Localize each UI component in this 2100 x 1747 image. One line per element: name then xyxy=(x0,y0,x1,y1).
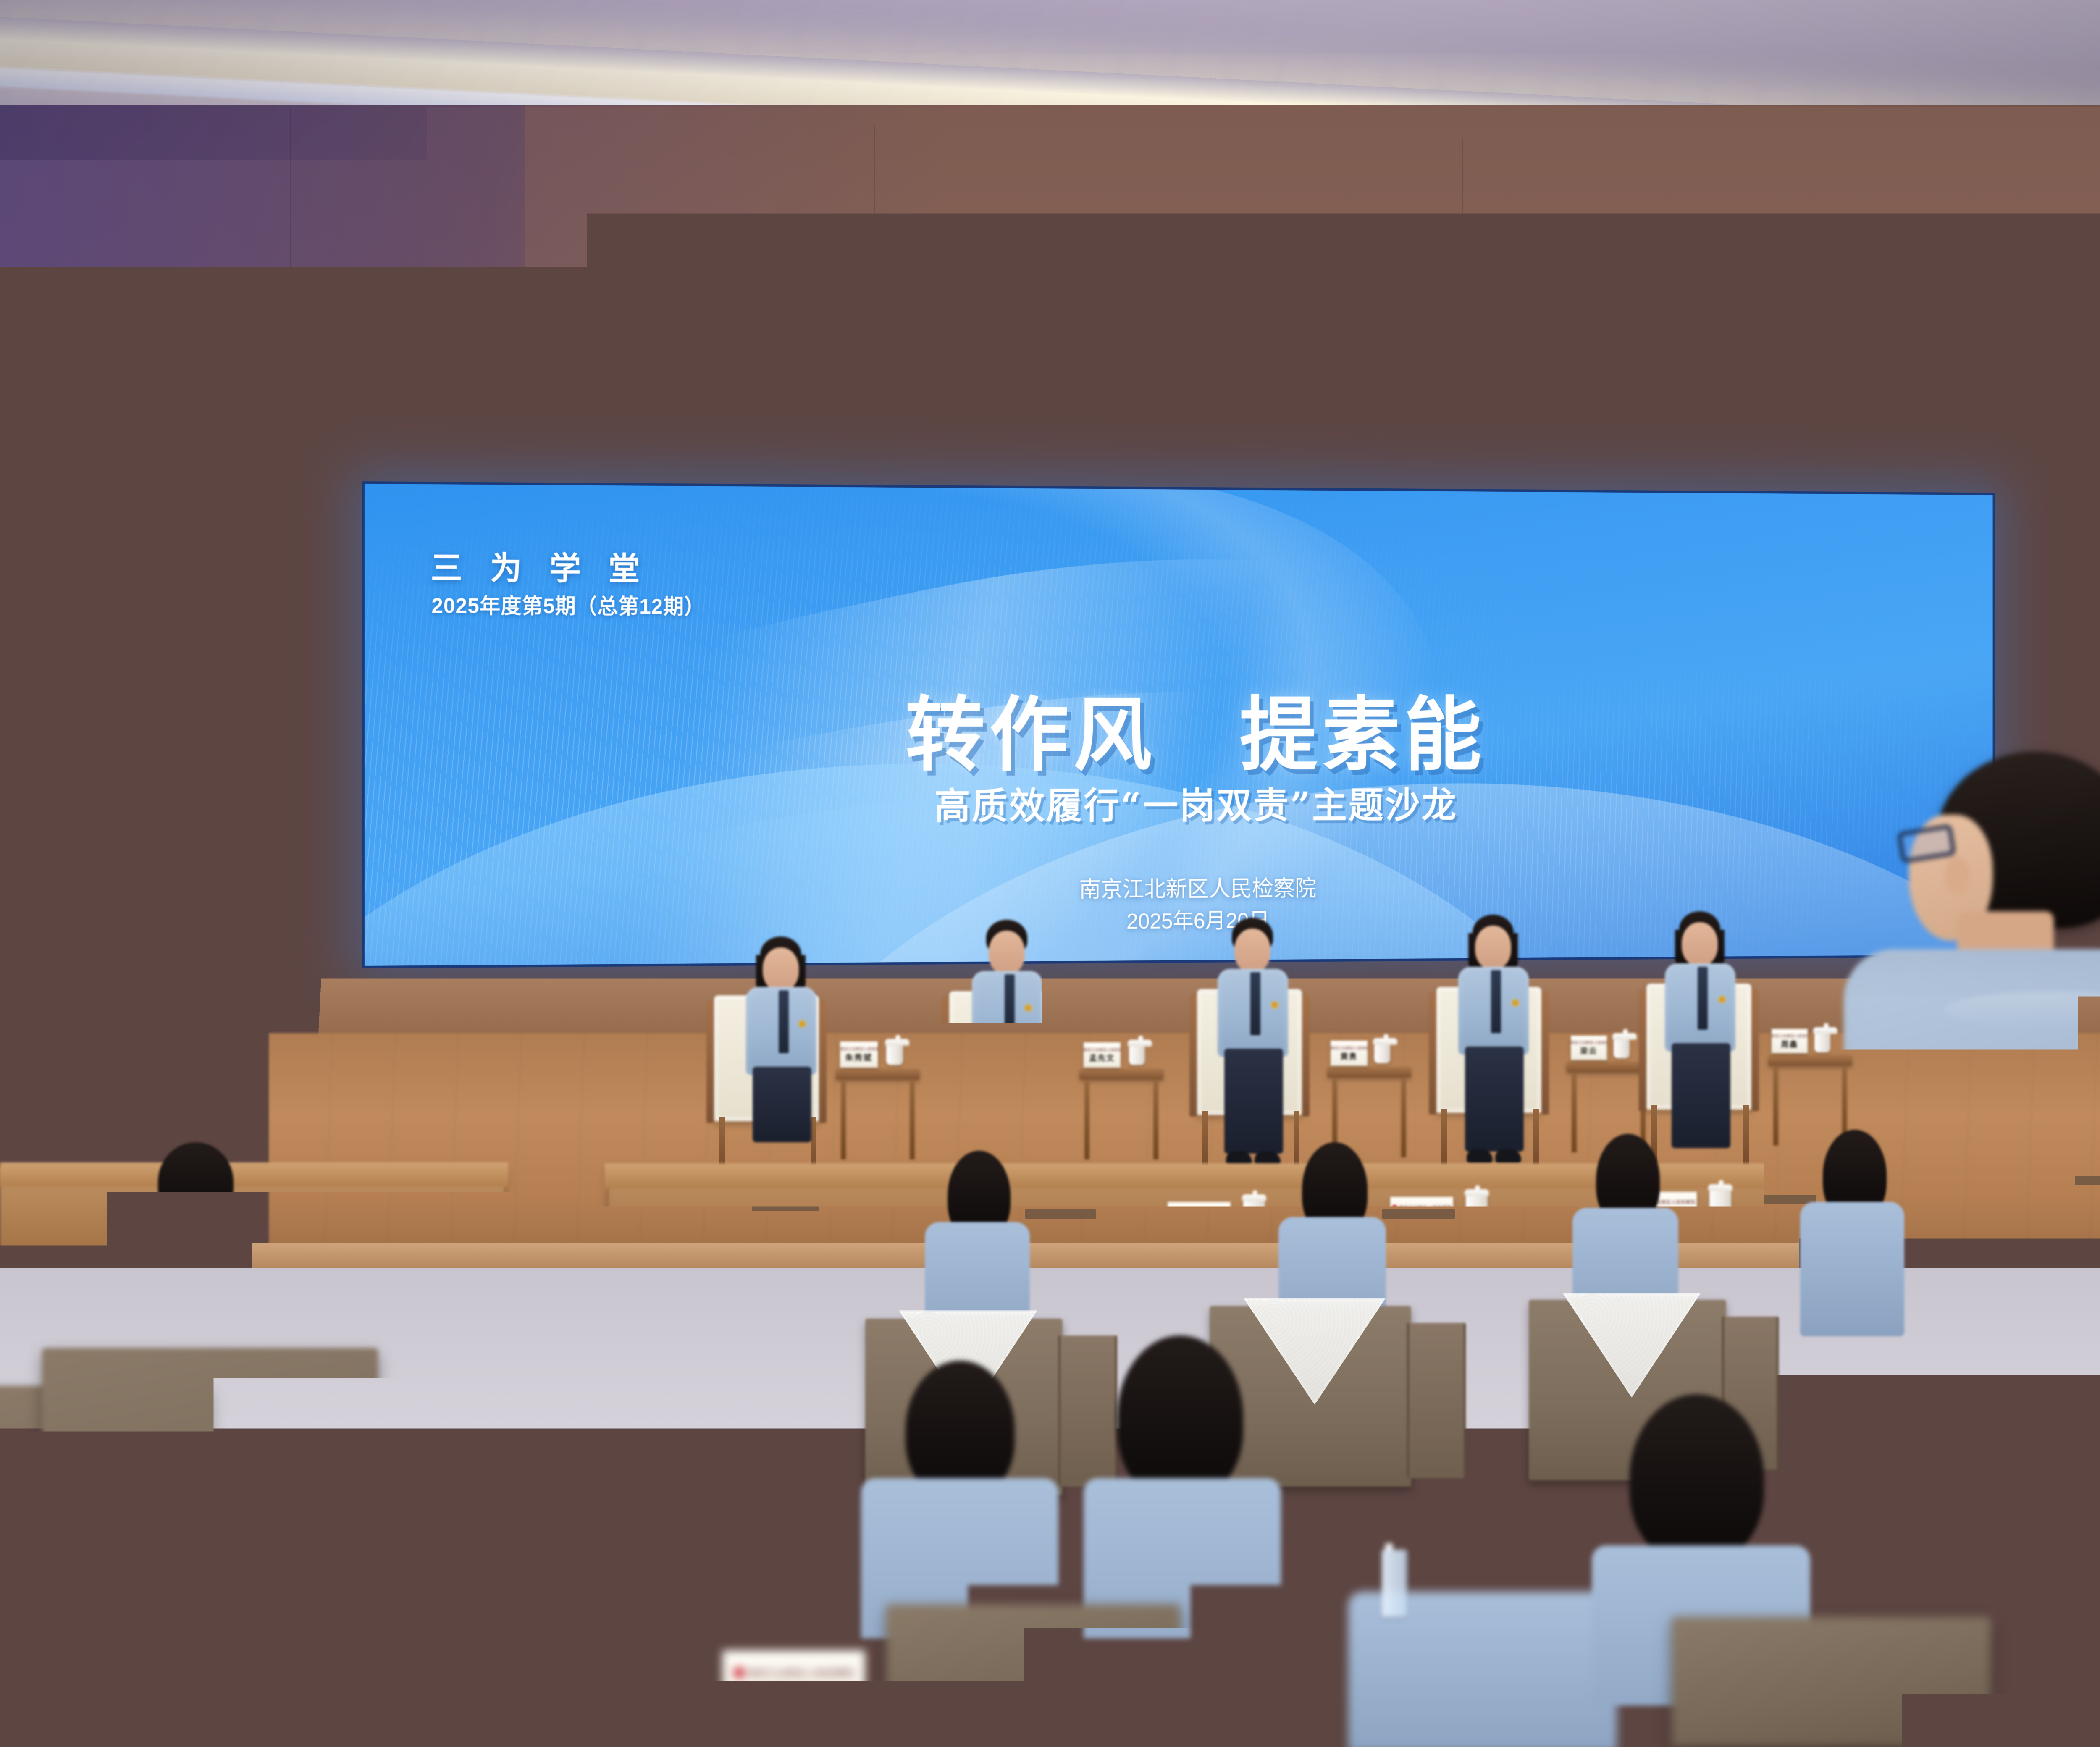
panelist-head xyxy=(1234,929,1270,972)
name-placard: 南京江北新区人民检察院 梁云 xyxy=(1571,1036,1607,1060)
panelist-tie xyxy=(1491,970,1501,1033)
table-leg xyxy=(1153,1080,1158,1159)
side-table xyxy=(1327,1067,1411,1078)
side-table xyxy=(1567,1062,1651,1073)
placard-org: 南京江北新区人民检察院 xyxy=(1399,1204,1452,1211)
placard-header: 南京江北新区人民检察院 xyxy=(1331,1045,1368,1051)
panelist-tie xyxy=(1698,967,1708,1030)
table-leg xyxy=(1773,1066,1778,1146)
placard-org: 南京江北新区人民检察院 xyxy=(320,1218,373,1225)
placard-name: 朱秀斌 xyxy=(321,1225,365,1243)
audience-hair xyxy=(1630,1394,1764,1562)
panelist-head xyxy=(1682,922,1718,966)
tea-cup xyxy=(1243,1200,1265,1226)
screen-kicker: 三 为 学 堂 xyxy=(430,542,649,589)
placard-header: 南京江北新区人民检察院 xyxy=(1084,1047,1121,1052)
placard-name: 周鑫 xyxy=(764,1679,823,1717)
placard-header: 南京江北新区人民检察院 xyxy=(1392,1204,1452,1211)
name-placard: 南京江北新区人民检察院 朱秀斌 xyxy=(311,1210,375,1251)
panelist-head xyxy=(763,947,799,991)
uniform-badge-icon xyxy=(1271,1002,1278,1008)
audience-desk-top xyxy=(0,1162,508,1187)
placard-name: 黄勇 xyxy=(1408,1211,1436,1228)
placard-name: 黄勇 xyxy=(1340,1051,1357,1062)
name-placard: 南京江北新区人民检察院 黄勇 xyxy=(1331,1041,1368,1066)
wall-seam xyxy=(0,622,378,623)
panelist-head xyxy=(1475,926,1511,969)
seat-armrest xyxy=(1058,1335,1117,1487)
tea-cup xyxy=(1466,1195,1488,1221)
screen-main-title: 转作风 提素能 xyxy=(365,669,1993,787)
tea-cup xyxy=(1374,1044,1390,1063)
procuratorate-emblem-icon xyxy=(313,1219,318,1224)
placard-org: 南京江北新区人民检察院 xyxy=(748,1666,854,1679)
uniform-badge-icon xyxy=(1512,999,1519,1006)
screen-issue-number: 2025年度第5期（总第12期） xyxy=(431,589,705,620)
conference-hall-photo: 三 为 学 堂 2025年度第5期（总第12期） 转作风 提素能 高质效履行“一… xyxy=(0,0,2100,1747)
panelist-head xyxy=(989,931,1025,974)
placard-name: 孟先文 xyxy=(1089,1052,1115,1063)
panelist-tie xyxy=(1250,972,1260,1035)
name-placard: 南京江北新区人民检察院 周鑫 xyxy=(1772,1029,1808,1053)
panelist-legs xyxy=(1672,1043,1730,1148)
wall-seam xyxy=(1462,139,1463,487)
foreground-armrest xyxy=(361,1386,464,1722)
screen-surface: 三 为 学 堂 2025年度第5期（总第12期） 转作风 提素能 高质效履行“一… xyxy=(365,484,1993,966)
panelist-tie xyxy=(1005,974,1015,1037)
placard-org: 南京江北新区人民检察院 xyxy=(1331,1045,1368,1051)
procuratorate-emblem-icon xyxy=(734,1667,745,1678)
placard-org: 南京江北新区人民检察院 xyxy=(1084,1047,1121,1052)
screen-content: 三 为 学 堂 2025年度第5期（总第12期） 转作风 提素能 高质效履行“一… xyxy=(365,484,1993,966)
table-leg xyxy=(1572,1073,1577,1152)
panelist-legs xyxy=(1465,1047,1524,1152)
standing-attendee xyxy=(1819,752,2100,1747)
procuratorate-emblem-icon xyxy=(1169,1210,1175,1215)
uniform-badge-icon xyxy=(799,1020,806,1027)
placard-org: 南京江北新区人民检察院 xyxy=(1772,1033,1808,1039)
placard-header: 南京江北新区人民检察院 xyxy=(1772,1033,1808,1039)
placard-name: 周鑫 xyxy=(1781,1039,1798,1049)
placard-name: 朱秀斌 xyxy=(845,1052,873,1063)
placard-header: 南京江北新区人民检察院 xyxy=(734,1666,854,1679)
side-table xyxy=(1079,1069,1163,1080)
placard-org: 南京江北新区人民检察院 xyxy=(1176,1209,1229,1216)
chair-leg xyxy=(1533,1109,1539,1172)
chair-leg xyxy=(1743,1105,1749,1168)
placard-header: 南京江北新区人民检察院 xyxy=(1169,1209,1229,1216)
placard-header: 南京江北新区人民检察院 xyxy=(840,1046,878,1052)
audience-hair xyxy=(1117,1335,1243,1499)
panelist-legs xyxy=(979,1051,1037,1156)
chair-leg xyxy=(1441,1109,1447,1172)
foreground-chair xyxy=(886,1604,1180,1747)
table-leg xyxy=(1084,1080,1089,1159)
audience-torso xyxy=(113,1207,281,1354)
standing-attendee-trousers xyxy=(1865,1419,2100,1747)
uniform-badge-icon xyxy=(1719,996,1725,1003)
audience-hair xyxy=(1390,1394,1567,1613)
side-table xyxy=(836,1069,920,1080)
panelist-shoe xyxy=(1467,1149,1493,1163)
wall-seam xyxy=(874,126,875,504)
led-stage-screen: 三 为 学 堂 2025年度第5期（总第12期） 转作风 提素能 高质效履行“一… xyxy=(362,481,1995,968)
tea-cup xyxy=(1129,1046,1145,1065)
water-bottle xyxy=(1382,1550,1407,1617)
placard-org: 南京江北新区人民检察院 xyxy=(840,1046,878,1052)
screen-subtitle: 高质效履行“一岗双责”主题沙龙 xyxy=(365,775,1993,831)
placard-name: 梁云 xyxy=(1580,1045,1597,1056)
wall-seam xyxy=(290,109,291,1075)
panelist-legs xyxy=(1224,1049,1283,1154)
name-placard: 南京江北新区人民检察院 黄勇 xyxy=(1390,1197,1453,1235)
table-leg xyxy=(1401,1078,1406,1157)
tea-cup xyxy=(886,1045,903,1065)
presenter-monitor xyxy=(752,1120,928,1259)
panelist-tie xyxy=(779,990,789,1053)
placard-header: 南京江北新区人民检察院 xyxy=(1571,1040,1607,1045)
panelist-shoe xyxy=(1495,1149,1521,1163)
screen-bezel: 三 为 学 堂 2025年度第5期（总第12期） 转作风 提素能 高质效履行“一… xyxy=(362,481,1995,968)
placard-org: 南京江北新区人民检察院 xyxy=(1571,1040,1607,1045)
standing-attendee-ear xyxy=(1945,857,1971,894)
name-placard: 南京江北新区人民检察院 孟先文 xyxy=(1084,1042,1121,1068)
tea-cup xyxy=(391,1209,412,1235)
uniform-badge-icon xyxy=(1025,1005,1032,1011)
placard-header: 南京江北新区人民检察院 xyxy=(313,1218,373,1225)
name-placard: 南京江北新区人民检察院 朱秀斌 xyxy=(840,1041,878,1068)
name-placard: 南京江北新区人民检察院 孟先文 xyxy=(1168,1202,1231,1241)
name-placard: 南京江北新区人民检察院 周鑫 xyxy=(722,1650,865,1732)
tea-cup xyxy=(1709,1190,1731,1216)
placard-name: 孟先文 xyxy=(1178,1216,1220,1233)
tea-cup xyxy=(1614,1039,1630,1058)
procuratorate-emblem-icon xyxy=(1392,1205,1397,1210)
